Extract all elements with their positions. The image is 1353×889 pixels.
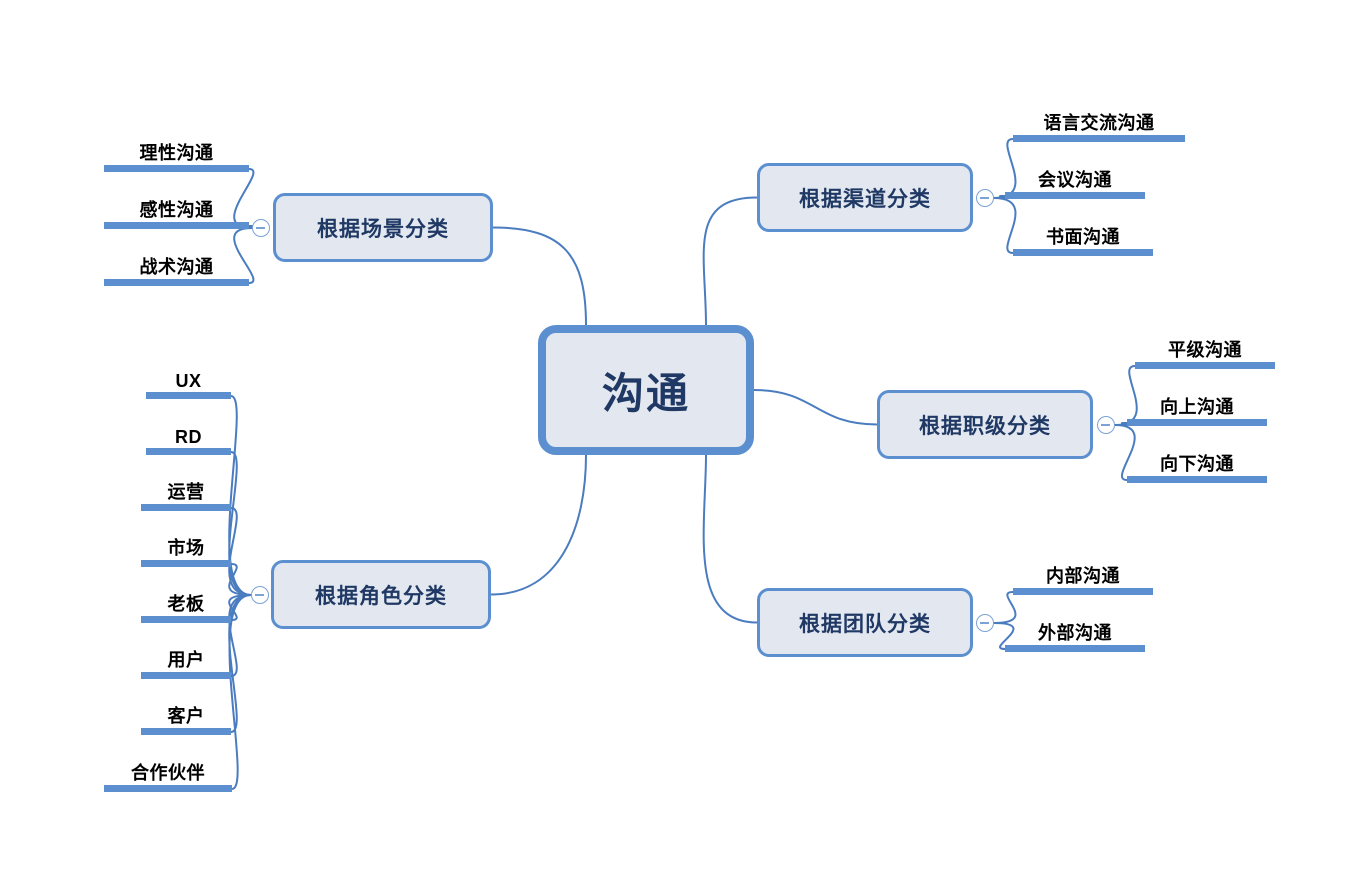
leaf-node-label: 市场 xyxy=(141,534,231,560)
branch-node-role[interactable]: 根据角色分类 xyxy=(271,560,491,629)
leaf-node-label: 老板 xyxy=(141,590,231,616)
leaf-node-underline xyxy=(146,448,231,455)
leaf-node[interactable]: 内部沟通 xyxy=(1013,558,1153,595)
leaf-node-label: 客户 xyxy=(141,702,231,728)
leaf-node-label: RD xyxy=(146,427,231,448)
branch-node-label: 根据职级分类 xyxy=(919,410,1051,440)
leaf-node-label: 感性沟通 xyxy=(104,196,249,222)
branch-node-channel[interactable]: 根据渠道分类 xyxy=(757,163,973,232)
leaf-node-underline xyxy=(1013,135,1185,142)
leaf-node-label: 书面沟通 xyxy=(1013,223,1153,249)
leaf-node-underline xyxy=(1127,419,1267,426)
leaf-node-label: 理性沟通 xyxy=(104,139,249,165)
leaf-node[interactable]: 客户 xyxy=(141,698,231,735)
mindmap-canvas: 沟通 根据场景分类理性沟通感性沟通战术沟通根据角色分类UXRD运营市场老板用户客… xyxy=(0,0,1353,889)
leaf-node[interactable]: 语言交流沟通 xyxy=(1013,105,1185,142)
collapse-toggle-team[interactable] xyxy=(976,614,994,632)
branch-node-scene[interactable]: 根据场景分类 xyxy=(273,193,493,262)
branch-node-label: 根据渠道分类 xyxy=(799,183,931,213)
leaf-node[interactable]: 市场 xyxy=(141,530,231,567)
leaf-node-underline xyxy=(1135,362,1275,369)
collapse-toggle-rank[interactable] xyxy=(1097,416,1115,434)
branch-node-rank[interactable]: 根据职级分类 xyxy=(877,390,1093,459)
leaf-node-underline xyxy=(104,165,249,172)
leaf-node-label: 向上沟通 xyxy=(1127,393,1267,419)
leaf-node-label: 语言交流沟通 xyxy=(1013,109,1185,135)
leaf-node-underline xyxy=(1005,645,1145,652)
collapse-toggle-channel[interactable] xyxy=(976,189,994,207)
collapse-toggle-role[interactable] xyxy=(251,586,269,604)
leaf-node-underline xyxy=(104,785,232,792)
leaf-node-label: 向下沟通 xyxy=(1127,450,1267,476)
leaf-node-underline xyxy=(141,728,231,735)
leaf-node[interactable]: 平级沟通 xyxy=(1135,332,1275,369)
leaf-node-underline xyxy=(1127,476,1267,483)
leaf-node[interactable]: 外部沟通 xyxy=(1005,615,1145,652)
leaf-node[interactable]: 理性沟通 xyxy=(104,135,249,172)
leaf-node-underline xyxy=(104,222,249,229)
central-node-label: 沟通 xyxy=(602,360,690,421)
leaf-node[interactable]: 向上沟通 xyxy=(1127,389,1267,426)
leaf-node[interactable]: 用户 xyxy=(141,642,231,679)
branch-node-label: 根据团队分类 xyxy=(799,608,931,638)
leaf-node-underline xyxy=(141,504,231,511)
leaf-node-label: 战术沟通 xyxy=(104,253,249,279)
leaf-node[interactable]: 会议沟通 xyxy=(1005,162,1145,199)
leaf-node[interactable]: 书面沟通 xyxy=(1013,219,1153,256)
leaf-node-label: 会议沟通 xyxy=(1005,166,1145,192)
leaf-node[interactable]: 感性沟通 xyxy=(104,192,249,229)
branch-node-label: 根据场景分类 xyxy=(317,213,449,243)
branch-node-team[interactable]: 根据团队分类 xyxy=(757,588,973,657)
leaf-node-underline xyxy=(1013,588,1153,595)
leaf-node-label: 内部沟通 xyxy=(1013,562,1153,588)
leaf-node-underline xyxy=(104,279,249,286)
central-node-communication[interactable]: 沟通 xyxy=(538,325,754,455)
leaf-node[interactable]: 合作伙伴 xyxy=(104,755,232,792)
leaf-node-underline xyxy=(141,616,231,623)
leaf-node-label: 用户 xyxy=(141,646,231,672)
collapse-toggle-scene[interactable] xyxy=(252,219,270,237)
leaf-node-underline xyxy=(1005,192,1145,199)
leaf-node-underline xyxy=(141,672,231,679)
leaf-node[interactable]: UX xyxy=(146,362,231,399)
leaf-node[interactable]: 老板 xyxy=(141,586,231,623)
leaf-node[interactable]: RD xyxy=(146,418,231,455)
leaf-node[interactable]: 战术沟通 xyxy=(104,249,249,286)
leaf-node-underline xyxy=(146,392,231,399)
leaf-node-underline xyxy=(141,560,231,567)
leaf-node-label: 外部沟通 xyxy=(1005,619,1145,645)
leaf-node-label: UX xyxy=(146,371,231,392)
leaf-node[interactable]: 向下沟通 xyxy=(1127,446,1267,483)
branch-node-label: 根据角色分类 xyxy=(315,580,447,610)
leaf-node[interactable]: 运营 xyxy=(141,474,231,511)
leaf-node-label: 平级沟通 xyxy=(1135,336,1275,362)
leaf-node-label: 合作伙伴 xyxy=(104,759,232,785)
leaf-node-label: 运营 xyxy=(141,478,231,504)
leaf-node-underline xyxy=(1013,249,1153,256)
